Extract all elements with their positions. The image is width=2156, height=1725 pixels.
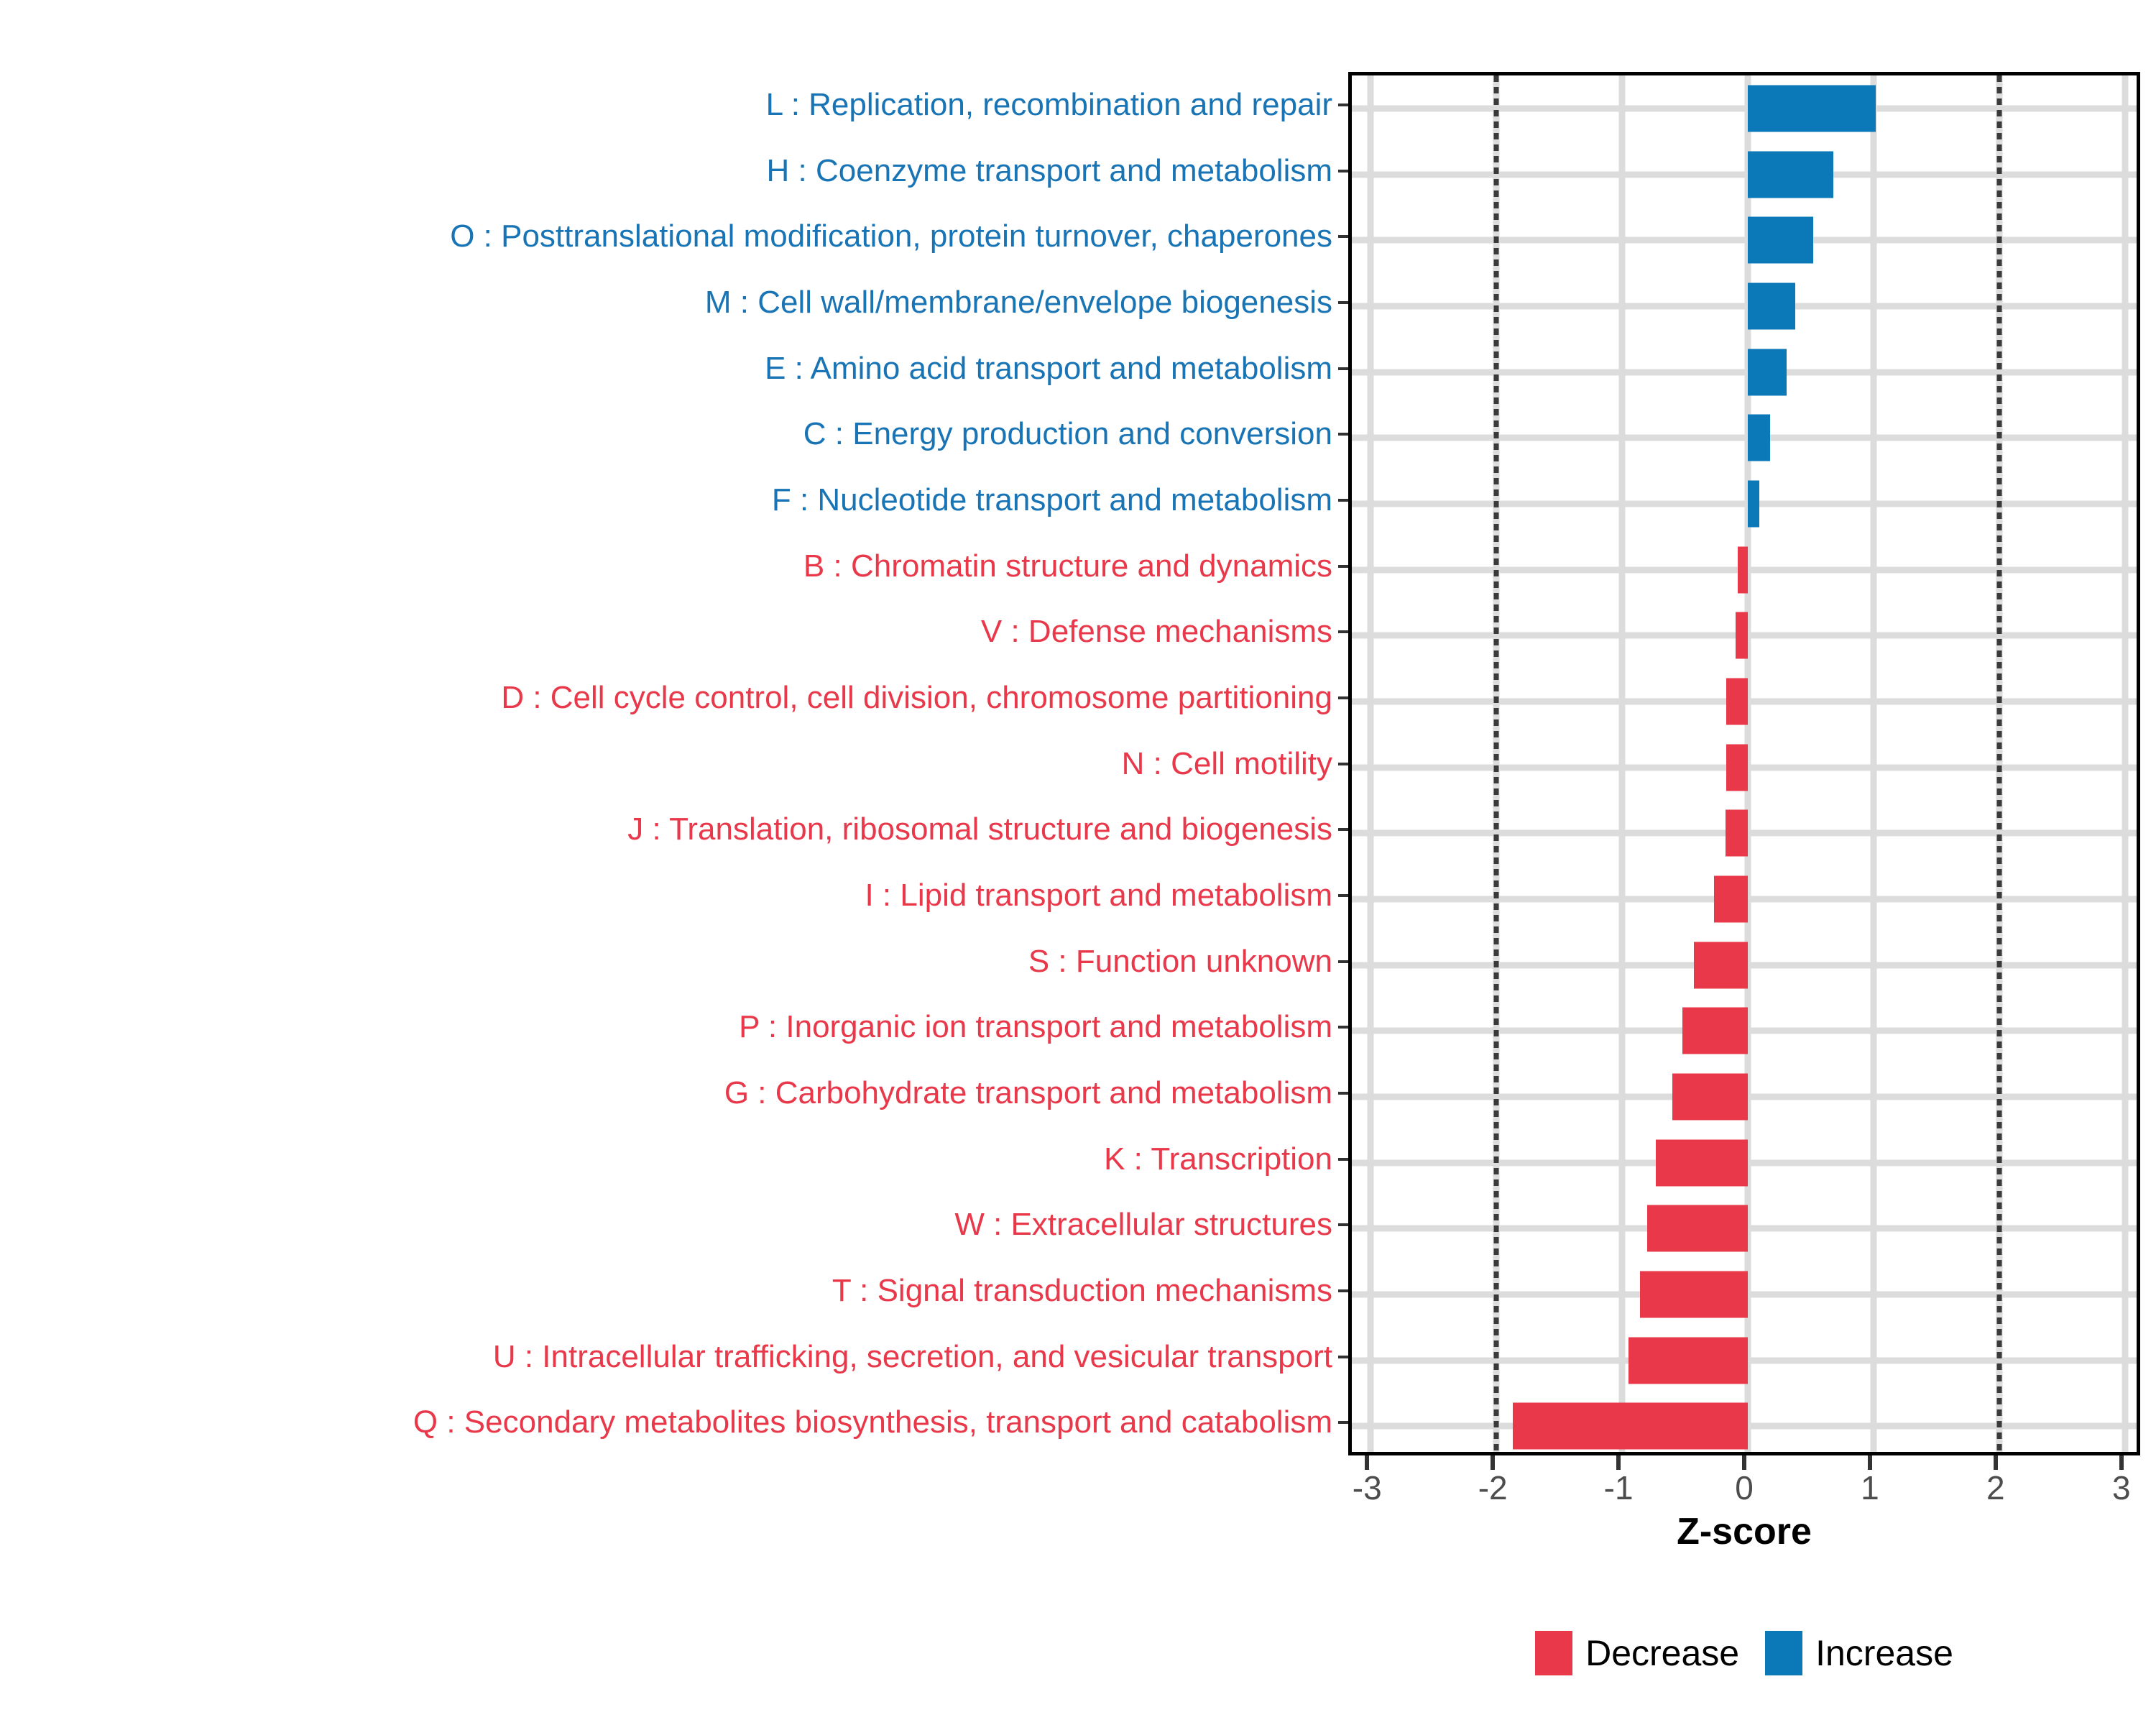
- x-axis-tick-mark: [1742, 1455, 1746, 1470]
- y-axis-tick-label: J : Translation, ribosomal structure and…: [627, 814, 1332, 845]
- legend-swatch-icon: [1765, 1631, 1802, 1675]
- y-axis-tick-label: C : Energy production and conversion: [803, 418, 1332, 450]
- y-axis-tick-label: P : Inorganic ion transport and metaboli…: [739, 1011, 1332, 1043]
- bar: [1672, 1073, 1748, 1120]
- y-axis-tick-label: B : Chromatin structure and dynamics: [803, 551, 1332, 582]
- reference-line: [1996, 75, 2001, 1452]
- bar: [1714, 875, 1748, 922]
- y-axis-tick-label: M : Cell wall/membrane/envelope biogenes…: [705, 287, 1332, 318]
- bar: [1726, 810, 1748, 857]
- bar: [1748, 349, 1787, 395]
- y-axis-tick-label: O : Posttranslational modification, prot…: [450, 221, 1332, 252]
- x-axis-tick-label: 3: [2112, 1471, 2131, 1504]
- legend-swatch-icon: [1535, 1631, 1572, 1675]
- cog-zscore-chart: L : Replication, recombination and repai…: [0, 0, 2156, 1725]
- y-axis-tick-label: L : Replication, recombination and repai…: [766, 89, 1332, 121]
- y-axis-tick-label: W : Extracellular structures: [954, 1209, 1332, 1241]
- y-axis-tick-mark: [1338, 1158, 1348, 1161]
- x-axis-tick-mark: [1994, 1455, 1998, 1470]
- y-axis-tick-label: S : Function unknown: [1028, 946, 1332, 977]
- x-axis-tick-mark: [1491, 1455, 1495, 1470]
- bar: [1682, 1008, 1748, 1054]
- y-axis-tick-label: T : Signal transduction mechanisms: [832, 1275, 1332, 1307]
- y-axis-tick-mark: [1338, 828, 1348, 831]
- y-axis-tick-mark: [1338, 763, 1348, 765]
- y-axis-tick-mark: [1338, 1092, 1348, 1095]
- bar: [1647, 1205, 1748, 1252]
- reference-line: [1494, 75, 1499, 1452]
- y-axis-tick-mark: [1338, 565, 1348, 568]
- legend-item[interactable]: Decrease: [1535, 1631, 1739, 1675]
- x-axis-tick-label: -2: [1478, 1471, 1508, 1504]
- y-axis-tick-label: H : Coenzyme transport and metabolism: [767, 155, 1332, 187]
- vertical-gridline: [1368, 75, 1374, 1452]
- y-axis-tick-mark: [1338, 1356, 1348, 1358]
- bar: [1748, 85, 1876, 132]
- x-axis-title: Z-score: [1348, 1513, 2140, 1550]
- y-axis-tick-mark: [1338, 1223, 1348, 1226]
- plot-panel: [1348, 72, 2140, 1455]
- bar: [1694, 942, 1748, 988]
- y-axis-label-column: L : Replication, recombination and repai…: [0, 72, 1348, 1455]
- bar: [1726, 678, 1748, 724]
- y-axis-tick-mark: [1338, 170, 1348, 172]
- y-axis-tick-mark: [1338, 1289, 1348, 1292]
- bar: [1628, 1337, 1748, 1384]
- vertical-gridline: [1619, 75, 1626, 1452]
- x-axis-tick-label: 2: [1986, 1471, 2005, 1504]
- x-axis-tick-label: -1: [1604, 1471, 1634, 1504]
- y-axis-tick-mark: [1338, 103, 1348, 106]
- y-axis-tick-label: U : Intracellular trafficking, secretion…: [493, 1341, 1332, 1373]
- legend-item[interactable]: Increase: [1765, 1631, 1953, 1675]
- x-axis-tick-label: -3: [1353, 1471, 1382, 1504]
- x-axis-tick-mark: [1616, 1455, 1621, 1470]
- x-axis-tick-label: 1: [1861, 1471, 1879, 1504]
- y-axis-tick-mark: [1338, 894, 1348, 897]
- bar: [1748, 415, 1770, 461]
- y-axis-tick-label: I : Lipid transport and metabolism: [865, 880, 1332, 911]
- y-axis-tick-label: E : Amino acid transport and metabolism: [765, 353, 1332, 385]
- y-axis-tick-mark: [1338, 630, 1348, 633]
- vertical-gridline: [2122, 75, 2128, 1452]
- y-axis-tick-mark: [1338, 499, 1348, 502]
- y-axis-tick-label: V : Defense mechanisms: [981, 616, 1332, 648]
- y-axis-tick-mark: [1338, 696, 1348, 699]
- y-axis-tick-label: G : Carbohydrate transport and metabolis…: [724, 1077, 1332, 1109]
- vertical-gridline: [1870, 75, 1876, 1452]
- legend-label: Increase: [1815, 1635, 1953, 1671]
- bar: [1738, 546, 1748, 593]
- y-axis-tick-label: Q : Secondary metabolites biosynthesis, …: [413, 1407, 1332, 1438]
- bar: [1748, 151, 1833, 198]
- bar: [1656, 1139, 1748, 1186]
- y-axis-tick-mark: [1338, 960, 1348, 963]
- y-axis-tick-label: N : Cell motility: [1122, 748, 1332, 780]
- plot-area: [1352, 75, 2137, 1452]
- x-axis: -3-2-10123: [1348, 1455, 2140, 1499]
- bar: [1748, 217, 1813, 264]
- x-axis-tick-label: 0: [1735, 1471, 1754, 1504]
- x-axis-tick-mark: [2119, 1455, 2124, 1470]
- x-axis-tick-mark: [1868, 1455, 1872, 1470]
- y-axis-tick-label: F : Nucleotide transport and metabolism: [772, 484, 1332, 516]
- bar: [1736, 612, 1748, 659]
- y-axis-tick-label: K : Transcription: [1104, 1144, 1332, 1175]
- chart-legend: DecreaseIncrease: [1348, 1621, 2140, 1685]
- bar: [1748, 282, 1795, 329]
- bar: [1513, 1403, 1748, 1450]
- legend-label: Decrease: [1585, 1635, 1739, 1671]
- y-axis-tick-mark: [1338, 301, 1348, 304]
- bar: [1748, 480, 1759, 527]
- y-axis-tick-label: D : Cell cycle control, cell division, c…: [501, 682, 1332, 714]
- y-axis-tick-mark: [1338, 235, 1348, 238]
- y-axis-tick-mark: [1338, 1421, 1348, 1424]
- y-axis-tick-mark: [1338, 433, 1348, 436]
- y-axis-tick-mark: [1338, 1026, 1348, 1029]
- x-axis-tick-mark: [1365, 1455, 1369, 1470]
- y-axis-tick-mark: [1338, 367, 1348, 370]
- bar: [1726, 744, 1748, 791]
- bar: [1640, 1271, 1748, 1317]
